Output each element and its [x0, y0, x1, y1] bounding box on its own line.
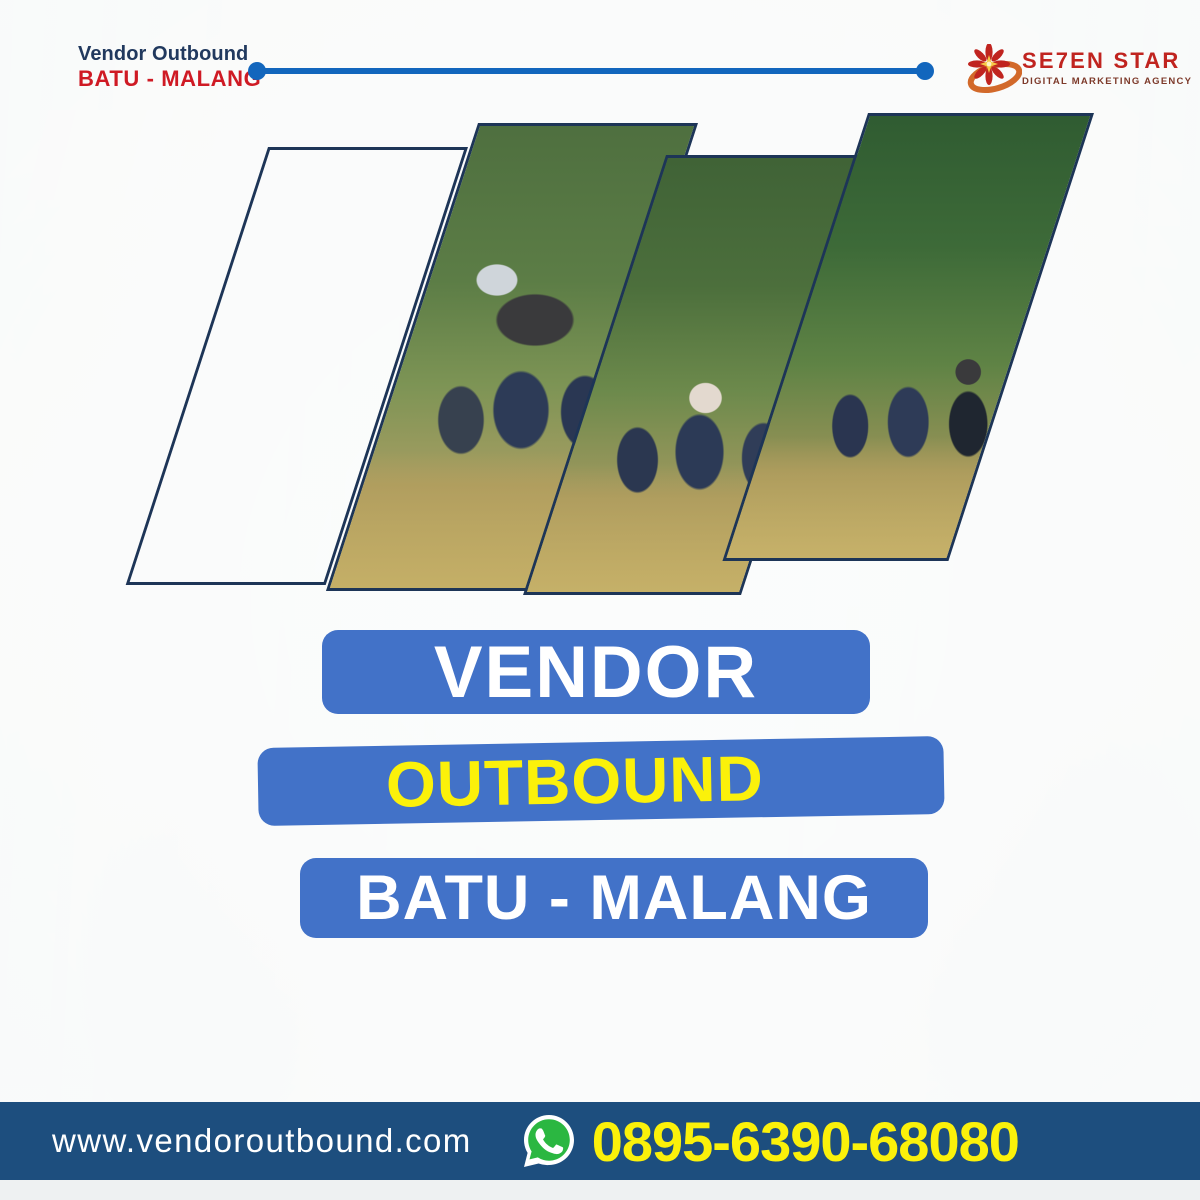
website-url[interactable]: www.vendoroutbound.com	[52, 1122, 472, 1160]
whatsapp-phone-number[interactable]: 0895-6390-68080	[592, 1109, 1019, 1174]
header-divider	[248, 62, 934, 80]
divider-line	[256, 68, 926, 74]
headline-text-vendor: VENDOR	[434, 636, 758, 709]
brand-location: BATU - MALANG	[78, 67, 261, 90]
divider-dot-right-icon	[916, 62, 934, 80]
whatsapp-icon[interactable]	[520, 1112, 578, 1170]
poster-canvas: Vendor Outbound BATU - MALANG	[0, 0, 1200, 1200]
footer-bottom-strip	[0, 1180, 1200, 1200]
headline-bar-location: BATU - MALANG	[300, 858, 928, 938]
headline-bar-vendor: VENDOR	[322, 630, 870, 714]
logo-text-block: SE7EN STAR DIGITAL MARKETING AGENCY	[1022, 48, 1192, 87]
headline-block: VENDOR OUTBOUND BATU - MALANG	[0, 600, 1200, 980]
contact-footer: www.vendoroutbound.com 0895-6390-68080	[0, 1102, 1200, 1180]
logo-tagline: DIGITAL MARKETING AGENCY	[1022, 76, 1192, 87]
agency-logo: SE7EN STAR DIGITAL MARKETING AGENCY	[966, 40, 1142, 102]
brand-name: Vendor Outbound	[78, 44, 261, 65]
seven-star-swoosh-icon	[966, 44, 1022, 96]
headline-text-outbound: OUTBOUND	[385, 746, 764, 817]
photo-collage	[0, 105, 1200, 605]
headline-text-location: BATU - MALANG	[356, 867, 872, 930]
headline-bar-outbound: OUTBOUND	[257, 736, 944, 826]
brand-block: Vendor Outbound BATU - MALANG	[78, 44, 261, 90]
logo-name: SE7EN STAR	[1022, 48, 1192, 74]
